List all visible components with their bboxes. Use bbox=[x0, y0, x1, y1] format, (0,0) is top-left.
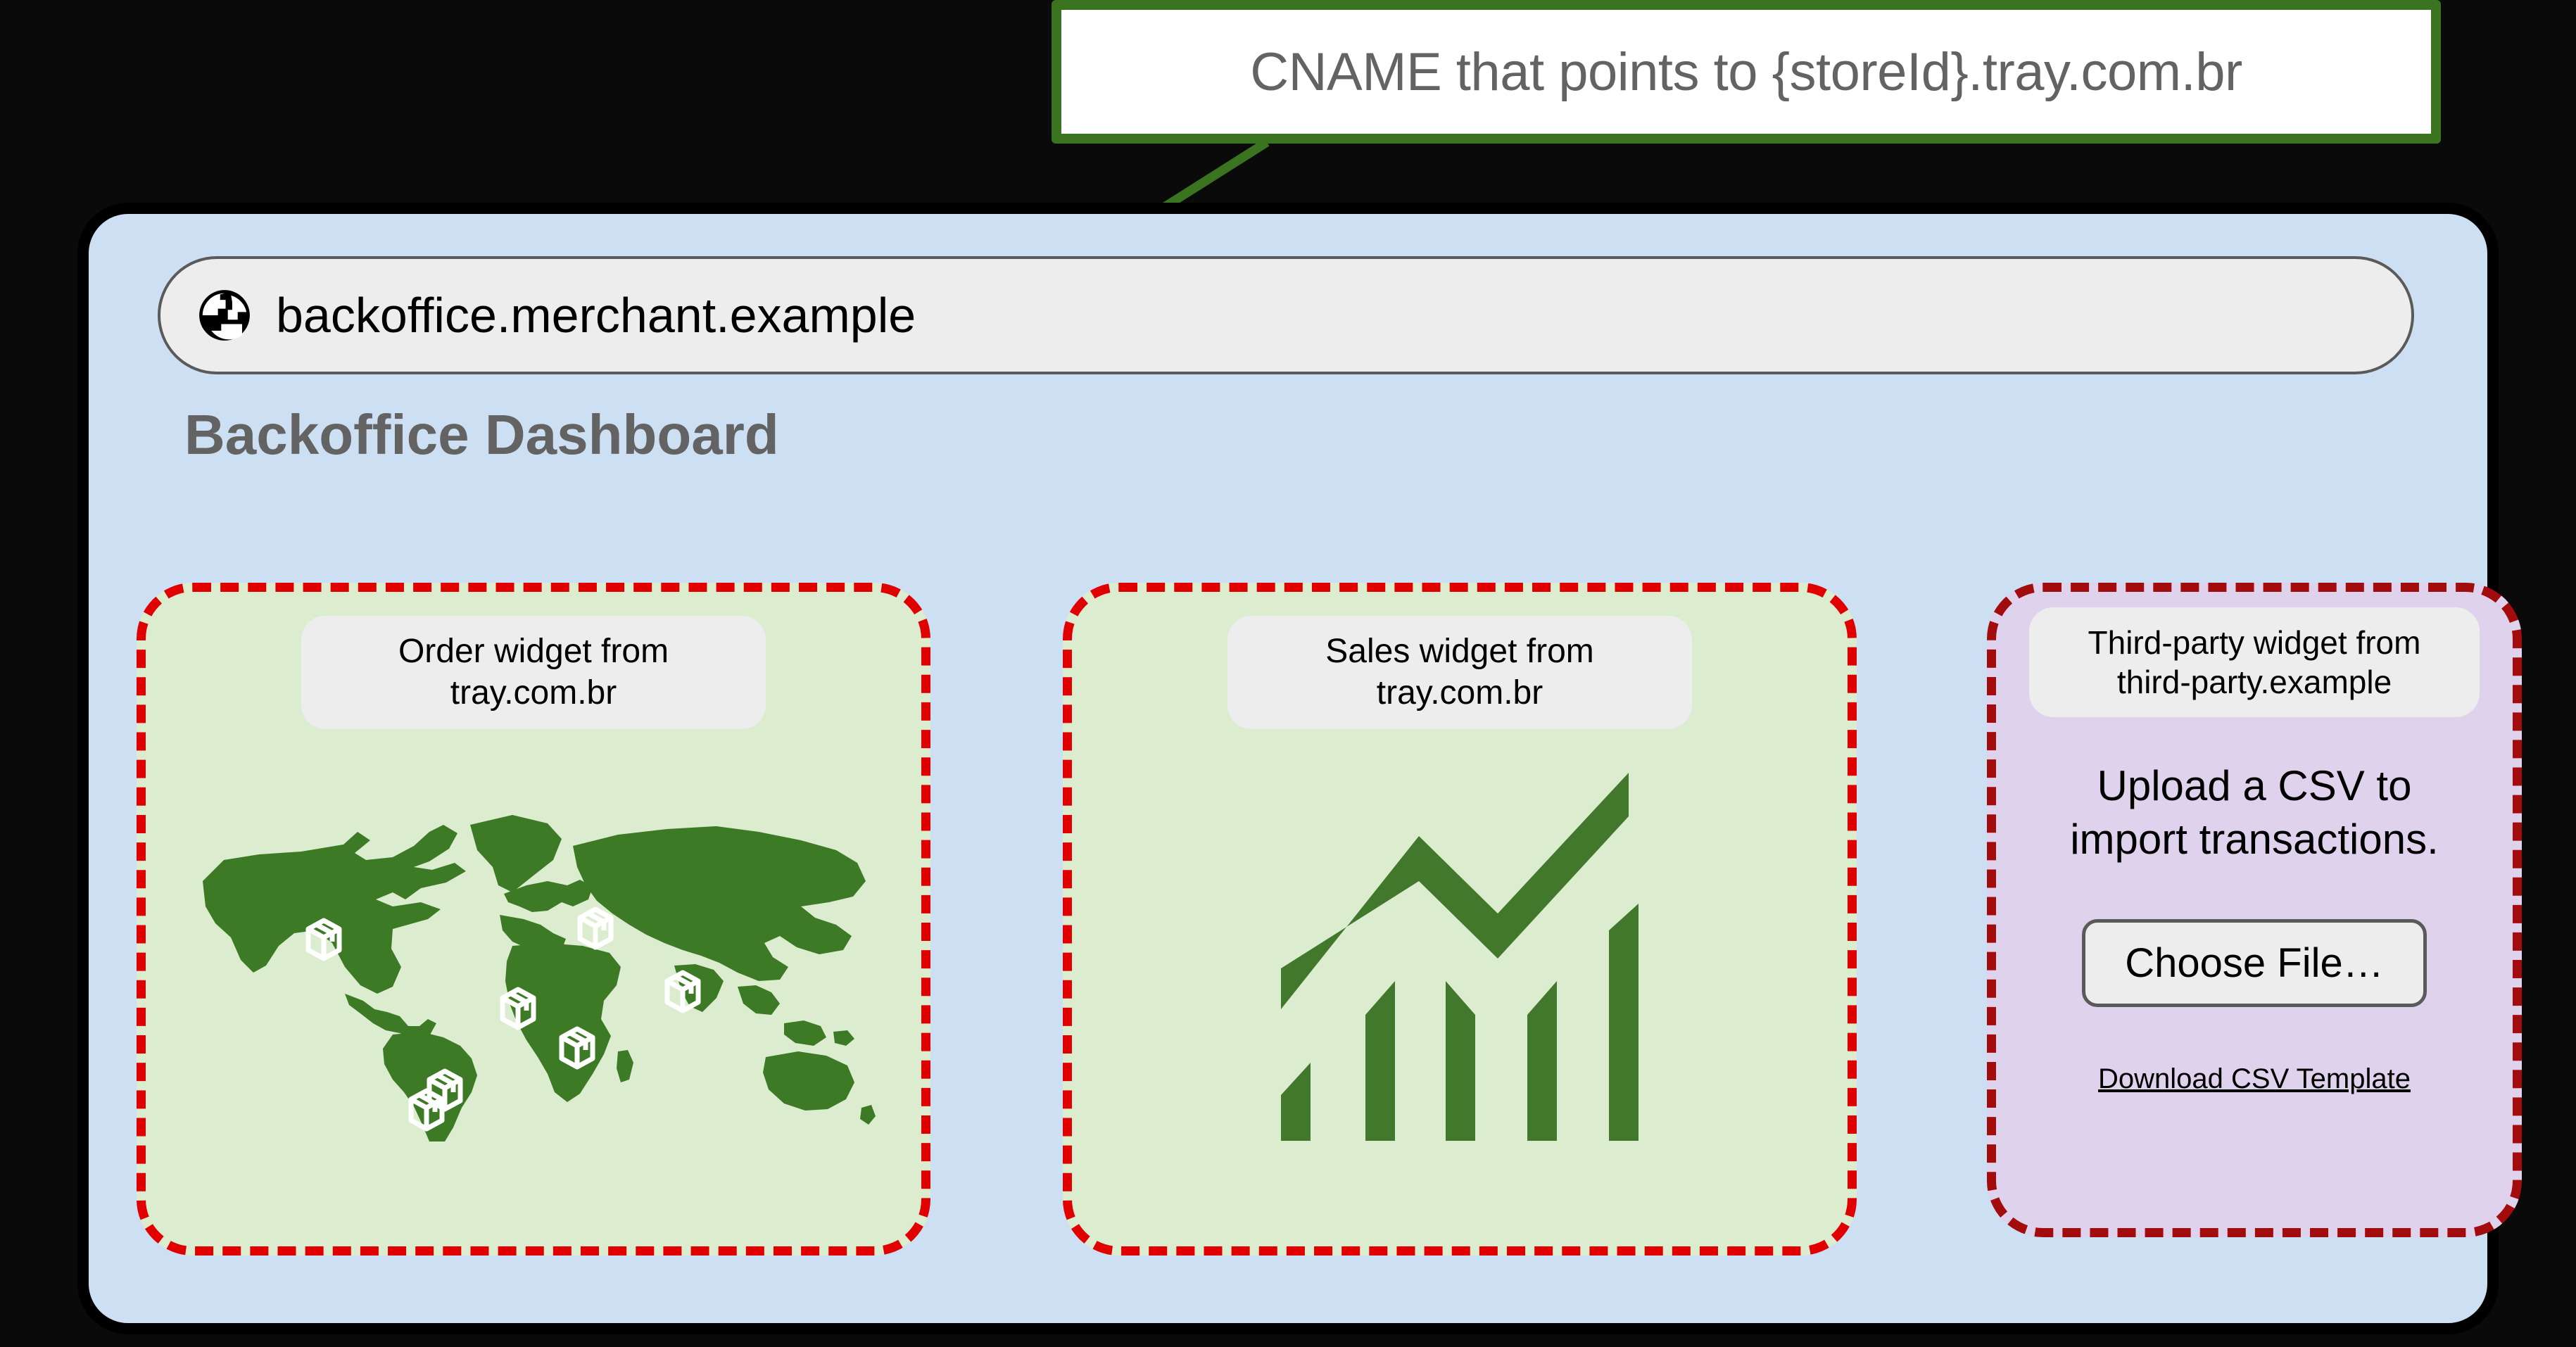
choose-file-button[interactable]: Choose File… bbox=[2082, 919, 2426, 1007]
widget-label-orders: Order widget from tray.com.br bbox=[301, 616, 766, 729]
widget-label-sales-line2: tray.com.br bbox=[1256, 673, 1664, 714]
widget-label-thirdparty-line1: Third-party widget from bbox=[2057, 623, 2451, 662]
upload-instructions-line1: Upload a CSV to bbox=[2070, 759, 2439, 813]
bar-chart-growth-icon bbox=[1263, 757, 1657, 1151]
widget-label-thirdparty-line2: third-party.example bbox=[2057, 662, 2451, 702]
browser-window: backoffice.merchant.example Backoffice D… bbox=[77, 203, 2499, 1334]
url-text: backoffice.merchant.example bbox=[276, 287, 916, 343]
page-title: Backoffice Dashboard bbox=[184, 403, 779, 467]
url-bar[interactable]: backoffice.merchant.example bbox=[158, 256, 2414, 374]
package-marker-central-asia bbox=[667, 973, 698, 1011]
package-marker-north-africa bbox=[503, 989, 533, 1027]
package-marker-europe bbox=[580, 909, 611, 947]
widget-card-orders[interactable]: Order widget from tray.com.br bbox=[137, 583, 930, 1256]
screenshot-root: CNAME that points to {storeId}.tray.com.… bbox=[0, 0, 2576, 1347]
package-marker-north-america bbox=[308, 921, 339, 959]
widget-label-sales-line1: Sales widget from bbox=[1256, 631, 1664, 673]
widget-card-thirdparty[interactable]: Third-party widget from third-party.exam… bbox=[1987, 583, 2522, 1237]
callout-text: CNAME that points to {storeId}.tray.com.… bbox=[1250, 42, 2242, 103]
world-map-icon bbox=[182, 761, 885, 1142]
widget-label-sales: Sales widget from tray.com.br bbox=[1227, 616, 1692, 729]
widget-label-orders-line1: Order widget from bbox=[329, 631, 738, 673]
callout-box: CNAME that points to {storeId}.tray.com.… bbox=[1052, 0, 2441, 144]
widget-label-orders-line2: tray.com.br bbox=[329, 673, 738, 714]
widget-card-sales[interactable]: Sales widget from tray.com.br bbox=[1063, 583, 1857, 1256]
upload-instructions: Upload a CSV to import transactions. bbox=[2070, 759, 2439, 866]
widget-label-thirdparty: Third-party widget from third-party.exam… bbox=[2029, 607, 2480, 717]
upload-instructions-line2: import transactions. bbox=[2070, 813, 2439, 866]
download-csv-template-link[interactable]: Download CSV Template bbox=[2098, 1063, 2411, 1095]
globe-icon bbox=[197, 288, 252, 343]
